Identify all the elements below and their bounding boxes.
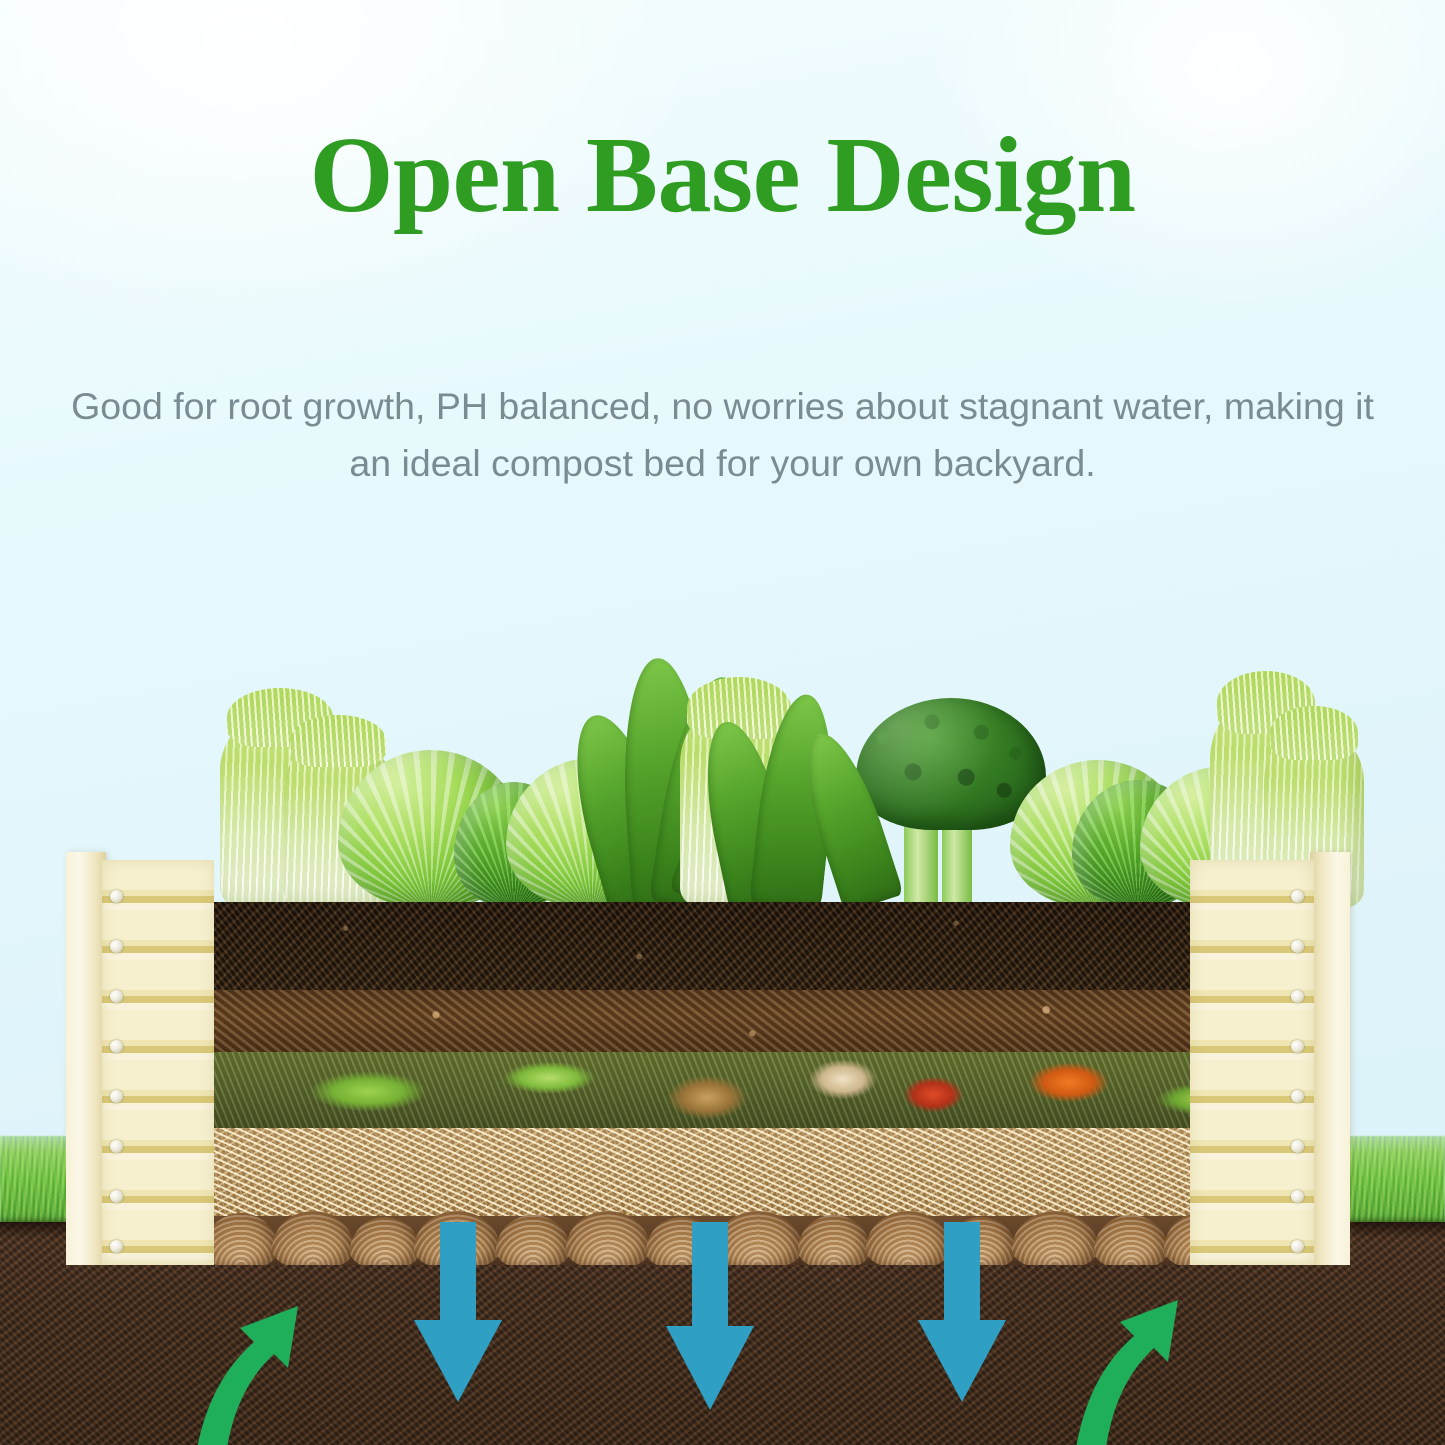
frame-slats [1190,860,1314,1265]
drainage-arrow-2 [662,1222,758,1418]
nutrient-uptake-arrow-1 [182,1258,332,1445]
screw-icon [1291,1190,1304,1203]
compost-bed-cross-section [210,902,1340,1265]
screw-icon [1291,890,1304,903]
layer-coarse-soil [210,990,1340,1052]
infographic-canvas: Open Base Design Good for root growth, P… [0,0,1445,1445]
right-frame-panel[interactable] [1190,860,1350,1265]
screw-icon [110,1090,123,1103]
screw-icon [110,1040,123,1053]
screw-icon [110,890,123,903]
screw-icon [1291,940,1304,953]
log-end [496,1215,570,1265]
screw-icon [1291,1090,1304,1103]
screw-icon [110,990,123,1003]
screw-icon [110,1240,123,1253]
screw-icon [1291,990,1304,1003]
layer-straw-mulch [210,1128,1340,1216]
nutrient-uptake-arrow-2 [1062,1252,1212,1445]
log-end [798,1215,870,1265]
screw-icon [1291,1240,1304,1253]
log-end [272,1211,354,1265]
frame-corner-post [1310,852,1350,1265]
page-subtitle: Good for root growth, PH balanced, no wo… [58,378,1388,492]
frame-slats [102,860,214,1265]
log-end [566,1211,650,1265]
screw-icon [1291,1140,1304,1153]
layer-kitchen-scraps [210,1052,1340,1128]
layer-topsoil-compost [210,902,1340,990]
drainage-arrow-1 [410,1222,506,1410]
frame-corner-post [66,852,106,1265]
screw-icon [110,940,123,953]
drainage-arrow-3 [914,1222,1010,1410]
screw-icon [1291,1040,1304,1053]
left-frame-panel[interactable] [66,860,214,1265]
screw-icon [110,1140,123,1153]
screw-icon [110,1190,123,1203]
vegetable-row [210,600,1340,908]
page-title: Open Base Design [0,118,1445,235]
